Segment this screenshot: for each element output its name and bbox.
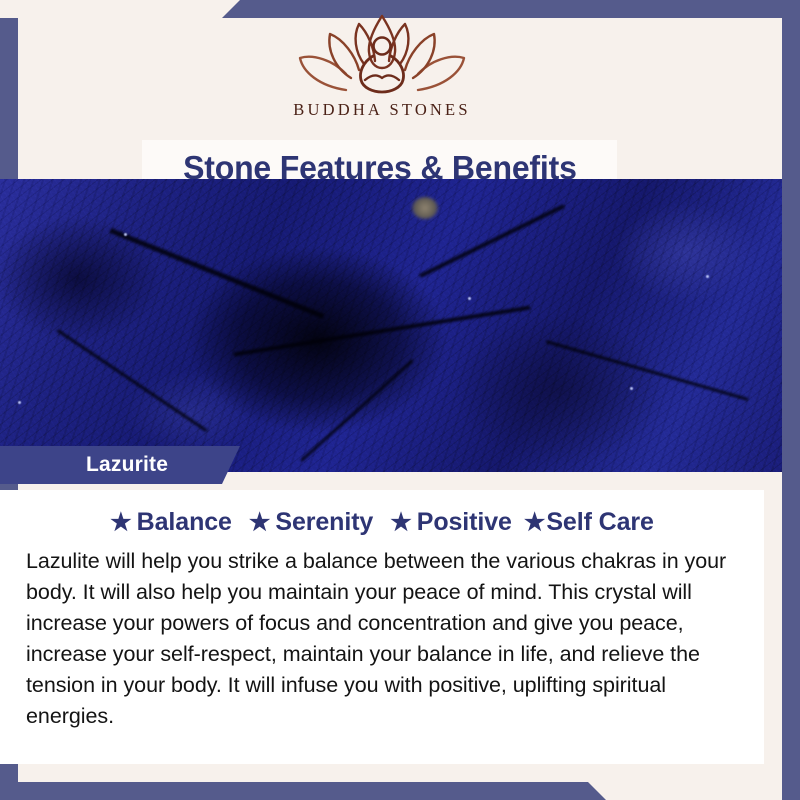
benefit-label: Balance [137,508,232,537]
star-icon: ★ [110,511,132,535]
stone-name-text: Lazurite [86,453,168,477]
benefit-label: Positive [417,508,512,537]
benefit-label: Self Care [546,508,654,537]
brand-name: BUDDHA STONES [293,100,470,120]
star-icon: ★ [524,511,546,535]
stone-description: Lazulite will help you strike a balance … [26,546,738,732]
star-icon: ★ [249,511,271,535]
stone-photo [0,179,782,472]
stone-features-poster: BUDDHA STONES Stone Features & Benefits … [0,0,800,800]
lotus-meditation-figure-icon [289,6,475,98]
benefit-item: ★ Self Care [524,508,654,537]
benefit-label: Serenity [275,508,373,537]
frame-bottom-accent [0,782,800,800]
star-icon: ★ [390,511,412,535]
stone-texture-overlay [0,179,782,472]
brand-logo: BUDDHA STONES [0,6,764,134]
stone-name-label: Lazurite [0,446,240,484]
benefits-row: ★ Balance ★ Serenity ★ Positive ★ Self C… [0,490,764,537]
stone-inclusion [412,197,438,219]
benefit-item: ★ Balance [110,508,232,537]
frame-right-accent [782,0,800,800]
benefit-item: ★ Serenity [249,508,373,537]
content-card: ★ Balance ★ Serenity ★ Positive ★ Self C… [0,490,764,764]
benefit-item: ★ Positive [390,508,512,537]
